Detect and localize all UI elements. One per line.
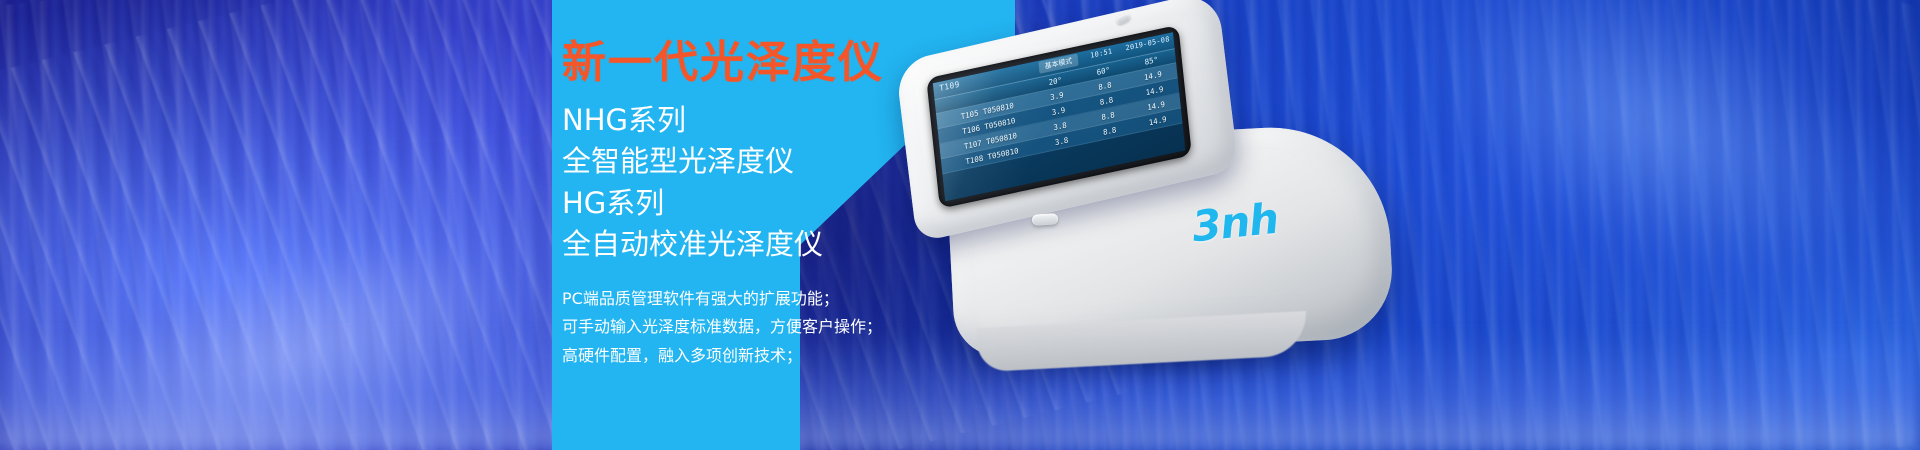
feature-list: PC端品质管理软件有强大的扩展功能； 可手动输入光泽度标准数据，方便客户操作； … xyxy=(562,285,1082,370)
screen-date: 2019-05-08 xyxy=(1125,35,1170,52)
subtitle-line-3: HG系列 xyxy=(562,183,1082,224)
screen-time: 10:51 xyxy=(1090,47,1113,60)
subtitle-list: NHG系列 全智能型光泽度仪 HG系列 全自动校准光泽度仪 xyxy=(562,100,1082,265)
subtitle-line-2: 全智能型光泽度仪 xyxy=(562,141,1082,182)
promo-banner: 新一代光泽度仪 NHG系列 全智能型光泽度仪 HG系列 全自动校准光泽度仪 PC… xyxy=(0,0,1920,450)
feature-line-1: PC端品质管理软件有强大的扩展功能； xyxy=(562,285,1082,313)
subtitle-line-4: 全自动校准光泽度仪 xyxy=(562,224,1082,265)
banner-text-block: 新一代光泽度仪 NHG系列 全智能型光泽度仪 HG系列 全自动校准光泽度仪 PC… xyxy=(562,40,1082,370)
feature-line-3: 高硬件配置，融入多项创新技术； xyxy=(562,342,1082,370)
subtitle-line-1: NHG系列 xyxy=(562,100,1082,141)
brand-logo: 3nh xyxy=(1190,194,1281,252)
feature-line-2: 可手动输入光泽度标准数据，方便客户操作； xyxy=(562,313,1082,341)
headline: 新一代光泽度仪 xyxy=(562,40,1082,86)
device-power-button[interactable] xyxy=(1115,12,1131,26)
